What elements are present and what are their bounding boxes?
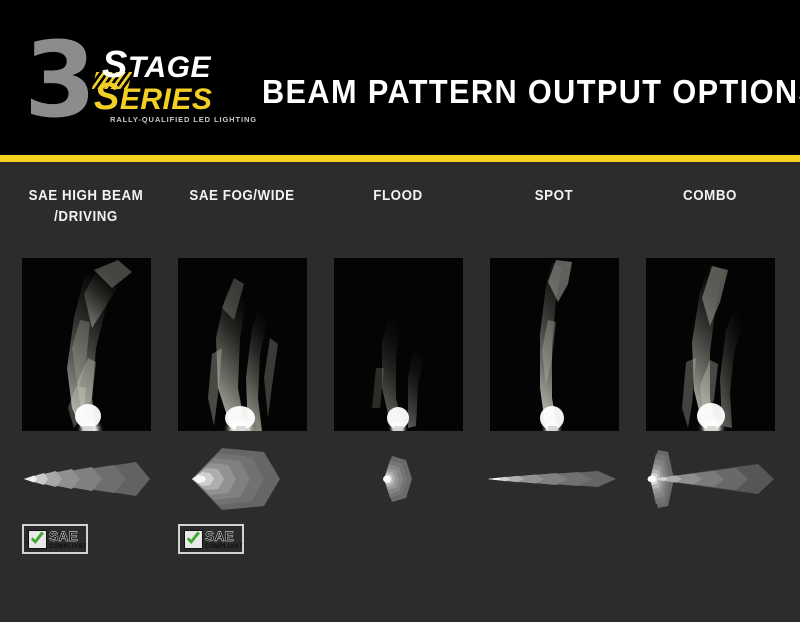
logo-series-cap: S — [94, 76, 120, 118]
column-flood: FLOOD — [322, 162, 474, 622]
column-combo: COMBO — [634, 162, 786, 622]
logo-series-rest: ERIES — [120, 83, 213, 116]
sae-badge-text: SAE COMPLIANT — [205, 529, 243, 551]
beam-diagram-sae-high-beam-driving — [10, 444, 162, 514]
column-label-line1: FLOOD — [328, 186, 468, 207]
road-night-photo — [178, 258, 307, 431]
logo-word-series: SERIES — [94, 82, 212, 115]
beam-photo-flood — [334, 258, 463, 431]
road-night-photo — [334, 258, 463, 431]
sae-compliant-badge: SAE COMPLIANT — [22, 524, 88, 554]
beam-diagram-spot — [478, 444, 630, 514]
beam-diagram-flood — [322, 444, 474, 514]
column-spot: SPOT — [478, 162, 630, 622]
beam-pattern-infographic: 3 STAGE SERIES RALLY-QUALIFIED LED LIGHT… — [0, 0, 800, 622]
sae-compliant-badge: SAE COMPLIANT — [178, 524, 244, 554]
columns-board: SAE HIGH BEAM /DRIVING — [0, 162, 800, 622]
sae-badge-text: SAE COMPLIANT — [49, 529, 87, 551]
check-icon — [28, 530, 47, 549]
column-label-line2: /DRIVING — [16, 207, 156, 228]
column-sae-fog-wide: SAE FOG/WIDE — [166, 162, 318, 622]
logo-tagline: RALLY-QUALIFIED LED LIGHTING — [110, 116, 257, 124]
road-night-photo — [646, 258, 775, 431]
sae-badge-sub: COMPLIANT — [49, 543, 87, 551]
check-icon — [184, 530, 203, 549]
beam-photo-sae-fog-wide — [178, 258, 307, 431]
road-night-photo — [22, 258, 151, 431]
beam-diagram-sae-fog-wide — [166, 444, 318, 514]
column-label-line1: SAE HIGH BEAM — [16, 186, 156, 207]
column-label: COMBO — [640, 186, 780, 207]
beam-photo-spot — [490, 258, 619, 431]
beam-photo-combo — [646, 258, 775, 431]
column-sae-high-beam-driving: SAE HIGH BEAM /DRIVING — [10, 162, 162, 622]
logo-stage-rest: TAGE — [128, 51, 211, 84]
logo-numeral-3: 3 — [24, 28, 92, 132]
column-label-line1: COMBO — [640, 186, 780, 207]
page-title: BEAM PATTERN OUTPUT OPTIONS — [262, 74, 800, 110]
sae-badge-main: SAE — [49, 529, 87, 543]
column-label: SPOT — [484, 186, 624, 207]
column-label: SAE HIGH BEAM /DRIVING — [16, 186, 156, 228]
sae-badge-main: SAE — [205, 529, 243, 543]
column-label-line1: SPOT — [484, 186, 624, 207]
sae-badge-sub: COMPLIANT — [205, 543, 243, 551]
brand-logo: 3 STAGE SERIES RALLY-QUALIFIED LED LIGHT… — [24, 32, 254, 132]
column-label: FLOOD — [328, 186, 468, 207]
column-label-line1: SAE FOG/WIDE — [172, 186, 312, 207]
beam-photo-sae-high-beam-driving — [22, 258, 151, 431]
road-night-photo — [490, 258, 619, 431]
header-bar: 3 STAGE SERIES RALLY-QUALIFIED LED LIGHT… — [0, 0, 800, 155]
beam-diagram-combo — [634, 444, 786, 514]
column-label: SAE FOG/WIDE — [172, 186, 312, 207]
header-divider — [0, 155, 800, 162]
